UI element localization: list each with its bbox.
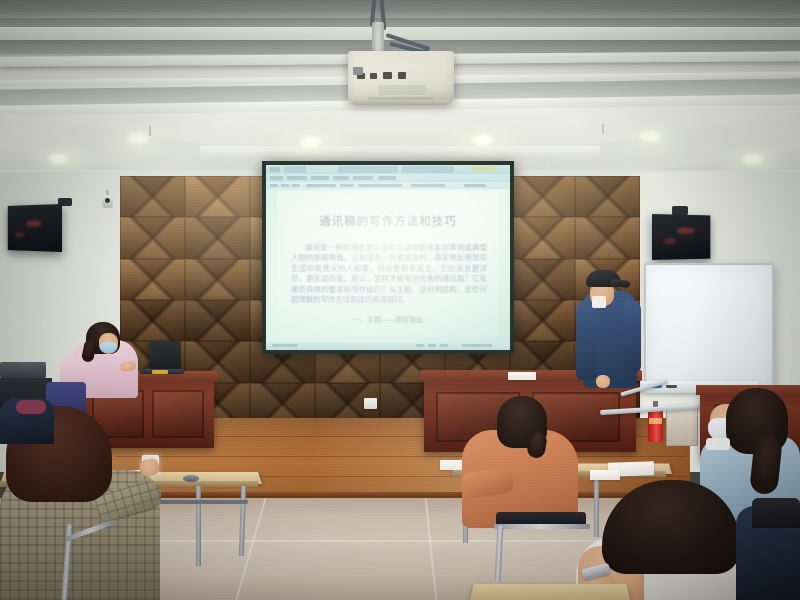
ceiling-projector (348, 51, 454, 103)
wood-tile (185, 176, 250, 217)
ppt-app-icon (270, 167, 280, 172)
ppt-statusbar (266, 342, 510, 350)
ppt-doc-tab-2[interactable] (338, 166, 398, 173)
lectern-papers (508, 372, 536, 380)
projector-vent (378, 85, 426, 95)
ppt-tab-file[interactable] (270, 176, 283, 180)
lamp-stem-1 (149, 126, 151, 136)
speaker-left-badge (14, 233, 24, 238)
camera-mount (106, 190, 109, 195)
ppt-tool-align-group[interactable] (358, 184, 402, 187)
wall-outlet[interactable] (364, 398, 377, 409)
ceiling-lamp-2 (296, 135, 326, 151)
ppt-tab-animations[interactable] (378, 176, 396, 180)
wood-tile (120, 300, 185, 341)
front-right-desk-top (470, 584, 630, 600)
security-camera (102, 194, 113, 208)
person-presenter-collar (592, 296, 606, 308)
person-presenter-arm-right (624, 300, 641, 372)
slide-title: 通讯稿的写作方法和技巧 (277, 213, 499, 229)
person-presenter-hand (596, 375, 610, 388)
center-papers-right (590, 470, 620, 480)
projector-port-3 (383, 72, 392, 79)
person-lightblue-collar (706, 438, 730, 450)
classroom-photo-scene: 通讯稿的写作方法和技巧 通讯是一种比消息更详细和生动地报道客观事物或典型人物的新… (0, 0, 800, 600)
wood-tile (185, 259, 250, 300)
wood-tile (120, 259, 185, 300)
projection-screen-frame: 通讯稿的写作方法和技巧 通讯是一种比消息更详细和生动地报道客观事物或典型人物的新… (262, 161, 514, 354)
laptop-screen[interactable] (149, 341, 181, 372)
wall-box-right (666, 406, 698, 446)
projector-port-2 (370, 73, 377, 79)
left-equipment-shelf (0, 362, 46, 378)
projector-mount (372, 22, 384, 54)
wall-speaker-right (652, 214, 710, 260)
ppt-tool-newslide[interactable] (281, 184, 289, 187)
wood-tile (510, 259, 575, 300)
marker-black-icon[interactable] (666, 385, 677, 388)
ppt-tab-transitions[interactable] (353, 176, 373, 180)
wood-tile (510, 176, 575, 217)
ceiling-groove-1 (0, 18, 800, 27)
ppt-tool-shapes[interactable] (411, 184, 445, 187)
wood-tile (510, 217, 575, 258)
ppt-doc-tab-1[interactable] (284, 166, 306, 173)
slide-body-text: 通讯是一种比消息更详细和生动地报道客观事物或典型人物的新闻体裁。它和消息一样要求… (291, 243, 487, 305)
wood-tile (120, 176, 185, 217)
fire-extinguisher-label (649, 418, 662, 424)
front-left-desk-leg-1 (196, 486, 201, 566)
wood-tile (120, 217, 185, 258)
ppt-view-normal-button[interactable] (416, 344, 424, 347)
desk-item-yellow (152, 370, 168, 374)
ceiling-lamp-6 (739, 152, 767, 167)
ppt-tab-insert[interactable] (311, 176, 329, 180)
ceiling-lamp-3 (468, 133, 498, 149)
projector-label-plate (353, 67, 363, 75)
person-presenter-arm-left (576, 300, 596, 380)
projector-port-4 (398, 72, 406, 79)
desk-small-object[interactable] (183, 475, 199, 482)
ppt-tool-paste[interactable] (270, 184, 278, 187)
ppt-tab-design[interactable] (333, 176, 349, 180)
fire-extinguisher (648, 408, 663, 442)
ceiling-lamp-4 (636, 129, 666, 145)
center-chair-frame (494, 524, 590, 529)
ppt-view-sorter-button[interactable] (428, 344, 436, 347)
ppt-login-button[interactable] (472, 166, 496, 172)
wood-tile (575, 176, 640, 217)
ppt-titlebar (266, 165, 510, 174)
person-operator-mask (100, 342, 117, 353)
speaker-right-badge (664, 238, 677, 244)
ppt-ribbon-toolbar (266, 182, 510, 189)
ceiling-cove-center (200, 146, 600, 160)
projection-screen-surface[interactable]: 通讯稿的写作方法和技巧 通讯是一种比消息更详细和生动地报道客观事物或典型人物的新… (266, 165, 510, 350)
speaker-right-logo (677, 227, 695, 234)
speaker-left-logo (26, 220, 42, 227)
ppt-doc-tab-3[interactable] (402, 166, 454, 173)
wood-tile (575, 217, 640, 258)
wood-tile (510, 300, 575, 341)
ceiling-lamp-5 (46, 152, 72, 166)
stage-plank-seam-2 (116, 456, 686, 457)
person-background-left-accent (16, 400, 46, 414)
ppt-zoom-slider[interactable] (462, 344, 492, 347)
center-desk-leg-2 (594, 477, 599, 537)
camera-lens-icon (105, 198, 110, 203)
ppt-tab-home[interactable] (287, 176, 307, 180)
ppt-view-reading-button[interactable] (440, 344, 448, 347)
wall-speaker-left (8, 204, 62, 252)
ppt-ribbon-tabs (266, 174, 510, 182)
projector-base (352, 100, 450, 105)
ppt-tool-editing[interactable] (464, 184, 486, 187)
lamp-stem-2 (602, 124, 604, 134)
wood-tile (185, 300, 250, 341)
ppt-tool-font[interactable] (306, 184, 336, 187)
slide-footer-text: 一、主题——贵在独出 (277, 315, 499, 325)
ppt-status-slidenum (272, 344, 298, 347)
far-right-chair-back (752, 498, 800, 528)
ppt-slide-page: 通讯稿的写作方法和技巧 通讯是一种比消息更详细和生动地报道客观事物或典型人物的新… (277, 191, 499, 337)
ppt-tool-size[interactable] (340, 184, 354, 187)
whiteboard[interactable] (644, 263, 774, 388)
wood-tile (185, 217, 250, 258)
ppt-tool-layout[interactable] (292, 184, 300, 187)
left-lectern-panel-2 (152, 390, 204, 438)
